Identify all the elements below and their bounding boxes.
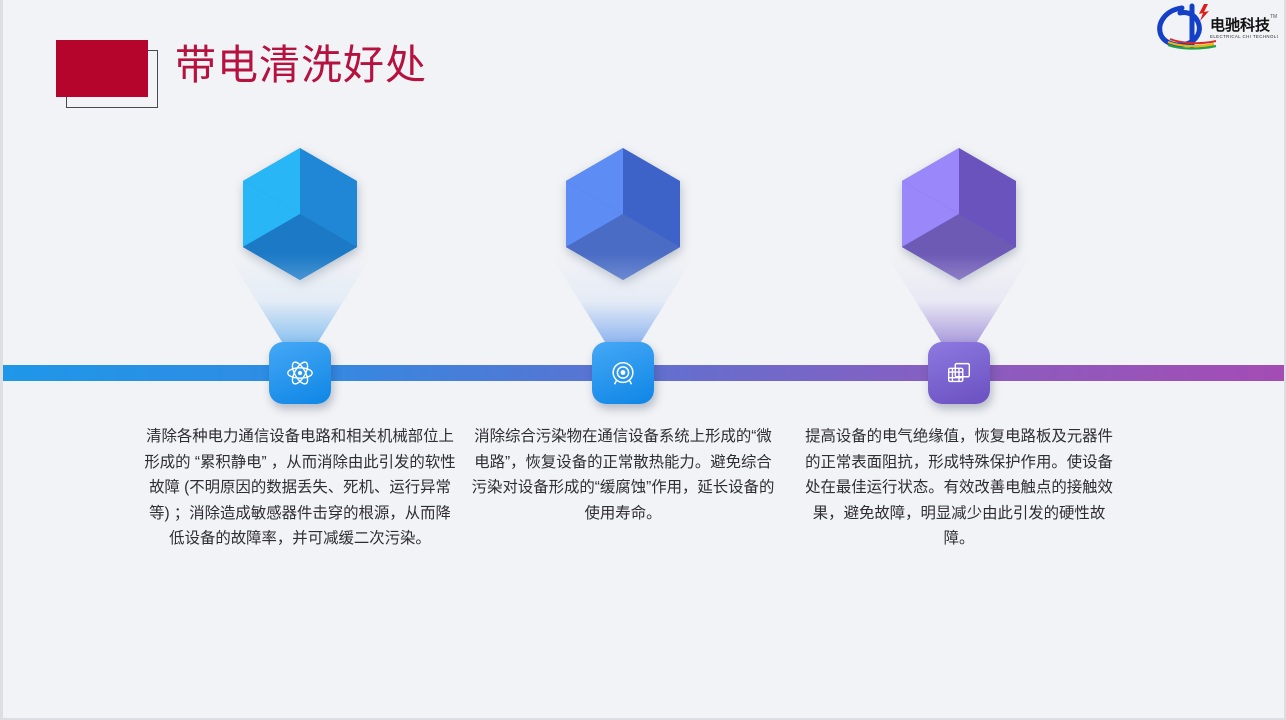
atom-icon (285, 358, 315, 388)
lightning-bolt-icon (1199, 4, 1209, 21)
benefit-column-3: 提高设备的电气绝缘值，恢复电路板及元器件的正常表面阻抗，形成特殊保护作用。使设备… (789, 0, 1129, 720)
slide-canvas: 电驰科技 ELECTRICAL CHI TECHNOLOGY TM 带电清洗好处 (0, 0, 1286, 720)
benefit-text-1: 清除各种电力通信设备电路和相关机械部位上形成的 “累积静电” ，从而消除由此引发… (130, 424, 470, 552)
svg-text:TM: TM (1270, 14, 1277, 20)
filmstrip-icon (944, 358, 974, 388)
icon-tile-3[interactable] (928, 342, 990, 404)
benefit-text-3: 提高设备的电气绝缘值，恢复电路板及元器件的正常表面阻抗，形成特殊保护作用。使设备… (789, 424, 1129, 552)
benefit-column-1: 清除各种电力通信设备电路和相关机械部位上形成的 “累积静电” ，从而消除由此引发… (130, 0, 470, 720)
benefit-column-2: 消除综合污染物在通信设备系统上形成的“微电路”，恢复设备的正常散热能力。避免综合… (453, 0, 793, 720)
benefit-text-2: 消除综合污染物在通信设备系统上形成的“微电路”，恢复设备的正常散热能力。避免综合… (453, 424, 793, 526)
icon-tile-2[interactable] (592, 342, 654, 404)
icon-tile-1[interactable] (269, 342, 331, 404)
svg-text:电驰科技: 电驰科技 (1210, 16, 1271, 34)
target-radar-icon (608, 358, 638, 388)
svg-text:ELECTRICAL CHI TECHNOLOGY: ELECTRICAL CHI TECHNOLOGY (1210, 34, 1278, 39)
company-logo: 电驰科技 ELECTRICAL CHI TECHNOLOGY TM (1152, 2, 1278, 50)
